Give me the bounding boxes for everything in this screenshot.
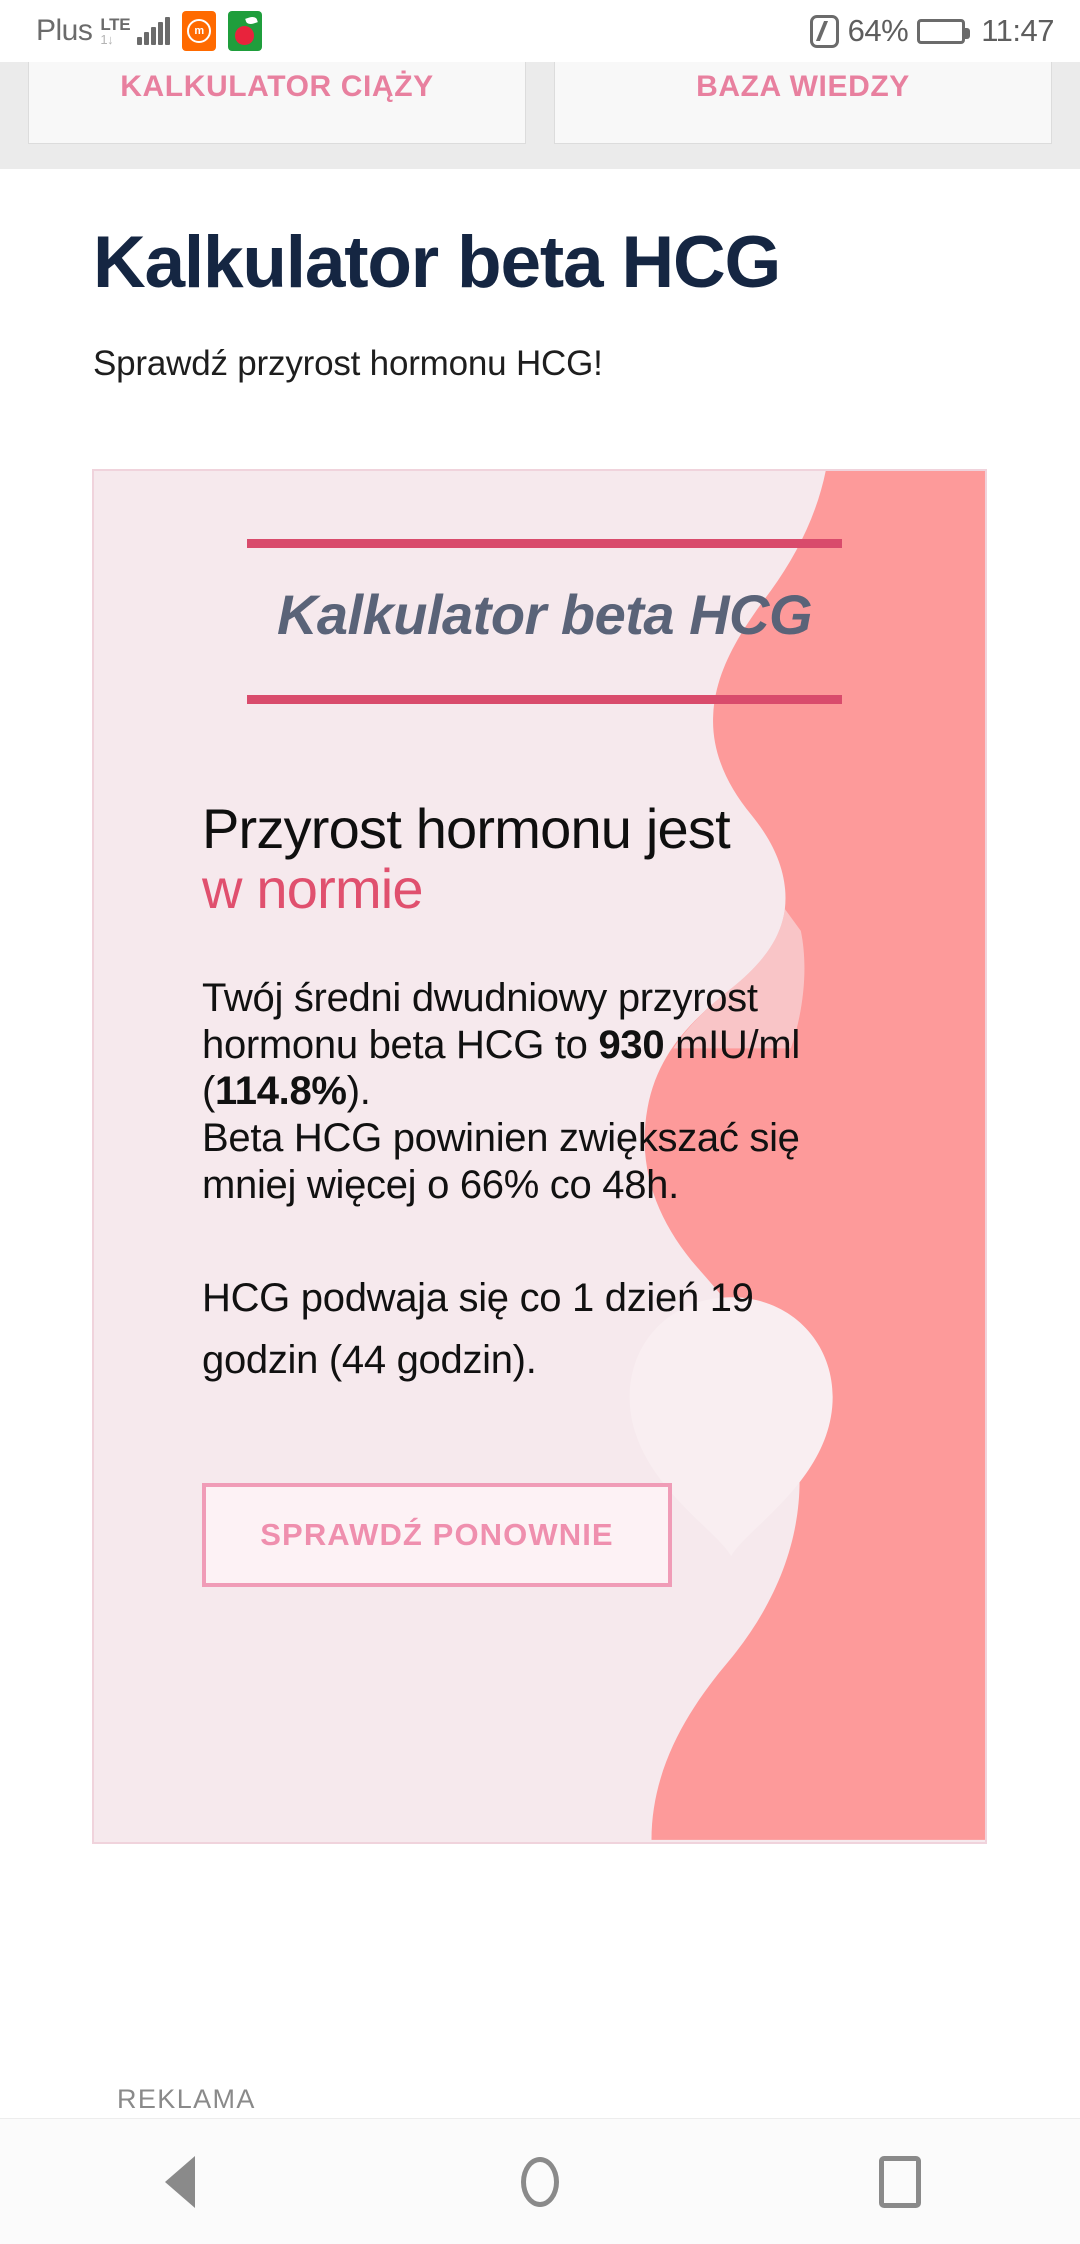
nav-home-button[interactable] — [470, 2119, 610, 2244]
hcg-value: 930 — [598, 1023, 664, 1067]
android-nav-bar — [0, 2118, 1080, 2244]
battery-icon — [917, 19, 965, 44]
result-card: Kalkulator beta HCG Przyrost hormonu jes… — [92, 469, 987, 1844]
status-bar-right: 64% 11:47 — [810, 13, 1054, 49]
phone-screen: Plus LTE 1↓ m 64% 11:47 KALKULATOR CIĄŻY — [0, 0, 1080, 2244]
apple-health-icon — [228, 11, 262, 51]
tab-label: KALKULATOR CIĄŻY — [120, 70, 433, 104]
tab-baza-wiedzy[interactable]: BAZA WIEDZY — [554, 62, 1052, 144]
status-bar: Plus LTE 1↓ m 64% 11:47 — [0, 0, 1080, 62]
nfc-icon — [810, 15, 839, 48]
recheck-button-label: SPRAWDŹ PONOWNIE — [260, 1517, 613, 1553]
tab-kalkulator-ciazy[interactable]: KALKULATOR CIĄŻY — [28, 62, 526, 144]
result-paragraph-2: HCG podwaja się co 1 dzień 19 godzin (44… — [202, 1267, 822, 1391]
card-rule-top — [247, 539, 842, 548]
mi-fit-icon: m — [182, 11, 216, 51]
clock-label: 11:47 — [981, 13, 1054, 49]
network-type-label: LTE — [100, 16, 130, 33]
carrier-label: Plus — [36, 14, 92, 48]
nav-recents-button[interactable] — [830, 2119, 970, 2244]
home-icon — [521, 2157, 559, 2207]
nav-back-button[interactable] — [110, 2119, 250, 2244]
card-content: Kalkulator beta HCG Przyrost hormonu jes… — [94, 539, 985, 1587]
ad-label: REKLAMA — [117, 2084, 256, 2115]
result-heading: Przyrost hormonu jest w normie — [202, 799, 782, 919]
card-header: Kalkulator beta HCG — [247, 582, 842, 647]
result-paragraph-1: Twój średni dwudniowy przyrost hormonu b… — [202, 975, 802, 1209]
page-title: Kalkulator beta HCG — [93, 225, 1080, 302]
paragraph-text-c: ). — [347, 1069, 371, 1113]
card-rule-bottom — [247, 695, 842, 704]
hcg-percent: 114.8% — [215, 1069, 347, 1113]
recents-icon — [879, 2156, 921, 2208]
tab-strip: KALKULATOR CIĄŻY BAZA WIEDZY — [0, 62, 1080, 169]
page-subtitle: Sprawdź przyrost hormonu HCG! — [93, 344, 1080, 384]
tab-label: BAZA WIEDZY — [696, 70, 910, 104]
signal-bars-icon — [137, 17, 170, 45]
network-type: LTE 1↓ — [100, 16, 130, 46]
network-activity-label: 1↓ — [100, 33, 113, 46]
paragraph-text-d: Beta HCG powinien zwiększać się mniej wi… — [202, 1116, 800, 1207]
battery-percent-label: 64% — [848, 13, 909, 49]
status-bar-left: Plus LTE 1↓ m — [36, 11, 262, 51]
result-heading-accent: w normie — [202, 857, 423, 920]
page-content: Kalkulator beta HCG Sprawdź przyrost hor… — [0, 169, 1080, 2163]
back-icon — [165, 2156, 195, 2208]
recheck-button[interactable]: SPRAWDŹ PONOWNIE — [202, 1483, 672, 1587]
result-heading-prefix: Przyrost hormonu jest — [202, 797, 730, 860]
